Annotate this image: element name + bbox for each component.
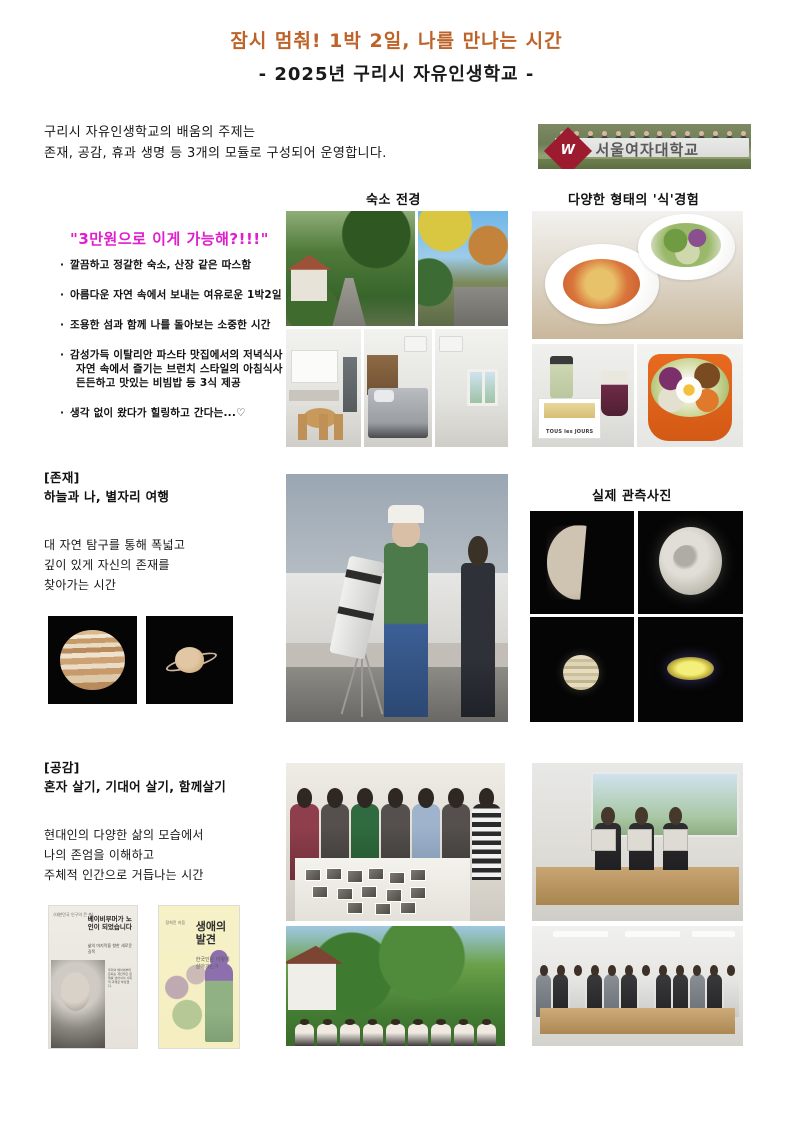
- book-author-portrait: [51, 960, 106, 1048]
- three-participants-photo: [532, 763, 743, 921]
- book-author: 정희진 지음: [165, 920, 185, 926]
- promo-headline: "3만원으로 이게 가능해?!!!": [70, 228, 269, 249]
- body-line: 주체적 인간으로 거듭나는 시간: [44, 865, 204, 885]
- module-existence-tag: [존재]: [44, 468, 169, 487]
- bullet-icon: ·: [60, 318, 64, 332]
- telescope-observation-photo: [286, 474, 508, 722]
- promo-item: · 감성가득 이탈리안 파스타 맛집에서의 저녁식사 자연 속에서 즐기는 브런…: [44, 348, 284, 390]
- jupiter-observed-photo: [530, 617, 634, 722]
- promo-item-line: 조용한 섬과 함께 나를 돌아보는 소중한 시간: [70, 318, 284, 332]
- promo-item-line: 감성가득 이탈리안 파스타 맛집에서의 저녁식사: [70, 348, 284, 362]
- module-empathy-tag: [공감]: [44, 758, 226, 777]
- module-existence-header: [존재] 하늘과 나, 별자리 여행: [44, 468, 169, 506]
- book-figure-illustration: [205, 963, 232, 1043]
- book-subtitle: 한국인은 어떻게 살아가는가: [196, 957, 234, 971]
- promo-item-line: 깔끔하고 정갈한 숙소, 산장 같은 따스함: [70, 258, 284, 272]
- full-moon-photo: [638, 511, 743, 614]
- intro-line-2: 존재, 공감, 휴과 생명 등 3개의 모듈로 구성되어 운영합니다.: [44, 143, 387, 164]
- forest-cabin-photo: [286, 211, 415, 326]
- promo-item-line: 자연 속에서 즐기는 브런치 스타일의 아침식사: [70, 362, 284, 376]
- body-line: 대 자연 탐구를 통해 폭넓고: [44, 535, 185, 555]
- body-line: 현대인의 다양한 삶의 모습에서: [44, 825, 204, 845]
- brunch-box-photo: TOUS les JOURS: [532, 344, 634, 447]
- saturn-observed-photo: [638, 617, 743, 722]
- intro-paragraph: 구리시 자유인생학교의 배움의 주제는 존재, 공감, 휴과 생명 등 3개의 …: [44, 122, 387, 164]
- half-moon-photo: [530, 511, 634, 614]
- bibimbap-photo: [637, 344, 743, 447]
- module-existence-heading: 하늘과 나, 별자리 여행: [44, 487, 169, 506]
- promo-item-line: 생각 없이 왔다가 힐링하고 간다는...♡: [70, 406, 284, 420]
- jupiter-photo: [48, 616, 137, 704]
- photo-card-workshop-photo: [286, 763, 505, 921]
- pasta-salad-photo: [532, 211, 743, 339]
- book-blurb: 우리의 베이비부머 은퇴는 개인적인 문제를 넘어서서 사회적 과제로 부상했다…: [108, 968, 133, 988]
- promo-item: · 깔끔하고 정갈한 숙소, 산장 같은 따스함: [44, 258, 284, 272]
- module-empathy-heading: 혼자 살기, 기대어 살기, 함께살기: [44, 777, 226, 796]
- bullet-icon: ·: [60, 406, 64, 420]
- body-line: 찾아가는 시간: [44, 575, 185, 595]
- page-title: 잠시 멈춰! 1박 2일, 나를 만나는 시간: [0, 26, 793, 56]
- promo-item-line: 아름다운 자연 속에서 보내는 여유로운 1박2일: [70, 288, 284, 302]
- module-existence-body: 대 자연 탐구를 통해 폭넓고 깊이 있게 자신의 존재를 찾아가는 시간: [44, 535, 185, 595]
- book-title: 베이비부머가 노인이 되었습니다: [88, 915, 133, 931]
- bullet-icon: ·: [60, 258, 64, 272]
- book-subtitle: 삶의 마지막을 향한 새로운 길목: [88, 943, 133, 955]
- promo-item: · 조용한 섬과 함께 나를 돌아보는 소중한 시간: [44, 318, 284, 332]
- body-line: 나의 존엄을 이해하고: [44, 845, 204, 865]
- book-cover-saengaeui-balgyeon: 정희진 지음 생애의 발견 한국인은 어떻게 살아가는가: [158, 905, 240, 1049]
- classroom-group-photo: [532, 926, 743, 1046]
- intro-line-1: 구리시 자유인생학교의 배움의 주제는: [44, 122, 387, 143]
- kitchen-dining-photo: [286, 329, 361, 447]
- lodging-section-label: 숙소 전경: [366, 189, 421, 208]
- outdoor-group-photo: [286, 926, 505, 1046]
- university-emblem-letter: W: [551, 134, 585, 168]
- bakery-brand-label: TOUS les JOURS: [539, 429, 600, 435]
- observation-section-label: 실제 관측사진: [592, 485, 672, 504]
- bullet-icon: ·: [60, 348, 64, 362]
- saturn-photo: [146, 616, 233, 704]
- bullet-icon: ·: [60, 288, 64, 302]
- university-name-label: 서울여자대학교: [596, 139, 700, 160]
- module-empathy-header: [공감] 혼자 살기, 기대어 살기, 함께살기: [44, 758, 226, 796]
- seoul-womens-university-photo: W 서울여자대학교: [538, 124, 751, 169]
- bedroom-photo: [364, 329, 432, 447]
- promo-bullet-list: · 깔끔하고 정갈한 숙소, 산장 같은 따스함 · 아름다운 자연 속에서 보…: [44, 258, 284, 436]
- promo-item-line: 든든하고 맛있는 비빔밥 등 3식 제공: [70, 376, 284, 390]
- body-line: 깊이 있게 자신의 존재를: [44, 555, 185, 575]
- book-cover-babyboomer: (대한민국 인구의 큰 축) 베이비부머가 노인이 되었습니다 삶의 마지막을 …: [48, 905, 138, 1049]
- document-header: 잠시 멈춰! 1박 2일, 나를 만나는 시간 - 2025년 구리시 자유인생…: [0, 26, 793, 90]
- book-title: 생애의 발견: [196, 920, 234, 946]
- promo-item: · 아름다운 자연 속에서 보내는 여유로운 1박2일: [44, 288, 284, 302]
- autumn-road-photo: [418, 211, 508, 326]
- promo-item: · 생각 없이 왔다가 힐링하고 간다는...♡: [44, 406, 284, 420]
- food-section-label: 다양한 형태의 '식'경험: [568, 189, 699, 208]
- module-empathy-body: 현대인의 다양한 삶의 모습에서 나의 존엄을 이해하고 주체적 인간으로 거듭…: [44, 825, 204, 885]
- page-subtitle: - 2025년 구리시 자유인생학교 -: [0, 60, 793, 90]
- empty-room-photo: [435, 329, 508, 447]
